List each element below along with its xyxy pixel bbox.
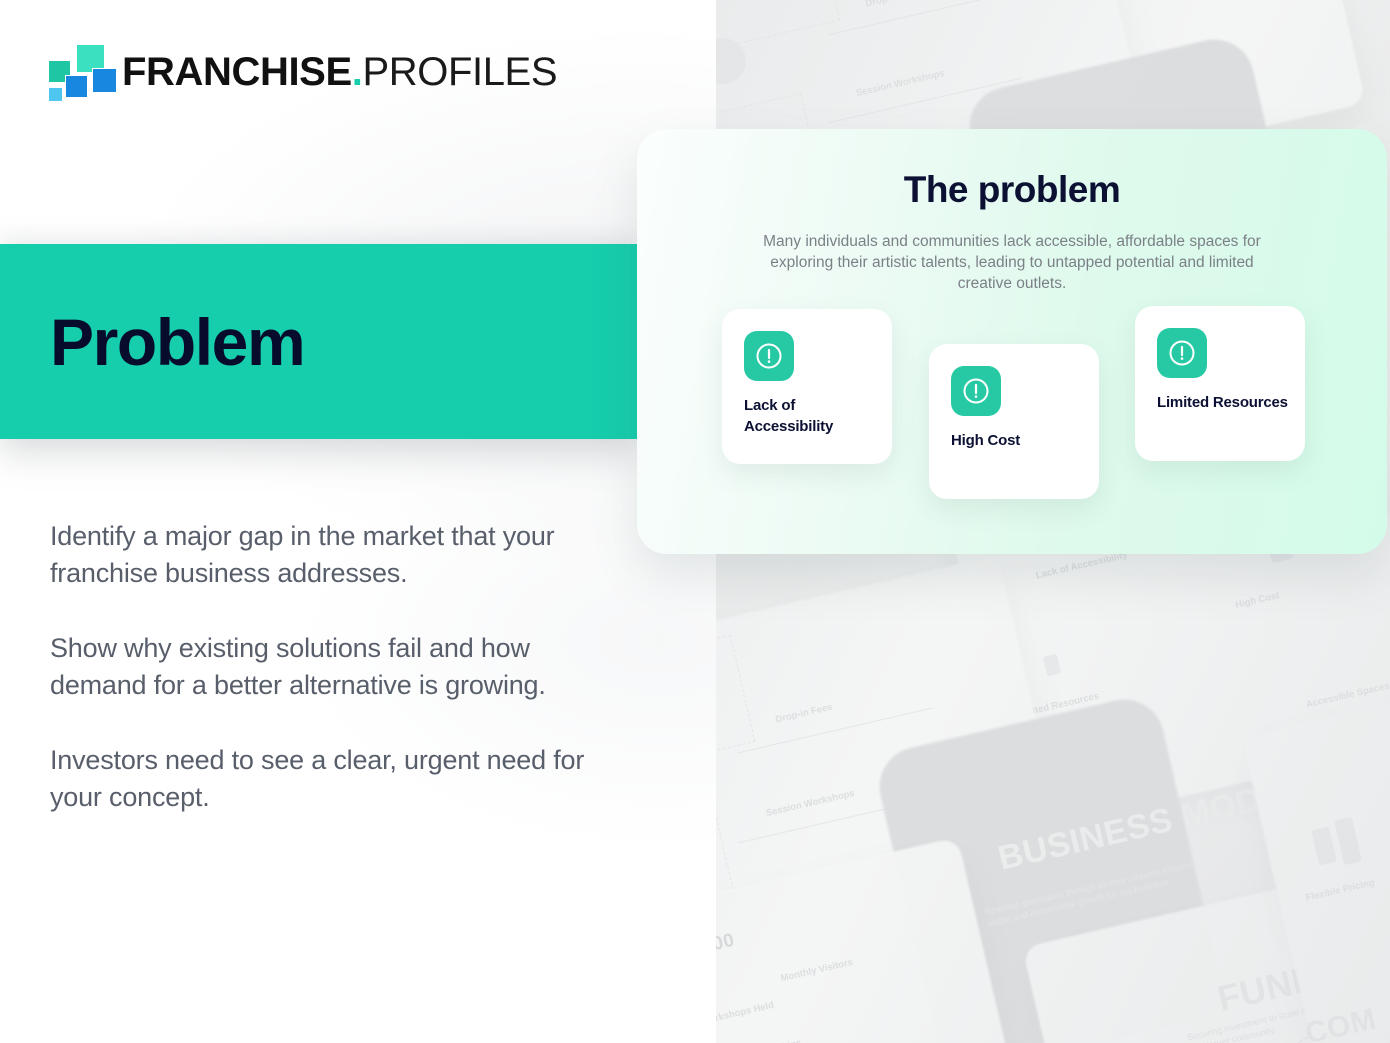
body-paragraph-2: Show why existing solutions fail and how…	[50, 630, 616, 704]
brand-name-bold: FRANCHISE	[122, 50, 352, 94]
feature-card-label: High Cost	[951, 430, 1087, 451]
alert-circle-icon	[951, 366, 1001, 416]
alert-circle-icon	[1157, 328, 1207, 378]
problem-preview-card: The problem Many individuals and communi…	[637, 129, 1387, 554]
section-title-band: Problem	[0, 244, 637, 439]
feature-card-label: Limited Resources	[1157, 392, 1293, 413]
feature-card-lack-of-accessibility[interactable]: Lack of Accessibility	[722, 309, 892, 464]
left-panel: FRANCHISE.PROFILES Problem Identify a ma…	[0, 0, 716, 1043]
problem-card-subtitle: Many individuals and communities lack ac…	[757, 231, 1267, 294]
feature-card-high-cost[interactable]: High Cost	[929, 344, 1099, 499]
body-paragraph-3: Investors need to see a clear, urgent ne…	[50, 742, 616, 816]
body-paragraph-1: Identify a major gap in the market that …	[50, 518, 616, 592]
page-title: Problem	[50, 309, 304, 375]
brand-logo[interactable]: FRANCHISE.PROFILES	[48, 44, 557, 100]
brand-wordmark: FRANCHISE.PROFILES	[122, 52, 557, 92]
brand-name-light: PROFILES	[362, 50, 557, 94]
brand-name-dot: .	[352, 50, 363, 94]
slide-canvas: Lack of Accessibility Drop-in Fees Sessi…	[0, 0, 1390, 1043]
squares-logo-icon	[48, 44, 104, 100]
body-copy: Identify a major gap in the market that …	[50, 518, 616, 816]
feature-card-limited-resources[interactable]: Limited Resources	[1135, 306, 1305, 461]
feature-card-label: Lack of Accessibility	[744, 395, 880, 437]
alert-circle-icon	[744, 331, 794, 381]
problem-feature-cards: Lack of Accessibility High Cost	[637, 309, 1387, 549]
problem-card-title: The problem	[637, 169, 1387, 211]
